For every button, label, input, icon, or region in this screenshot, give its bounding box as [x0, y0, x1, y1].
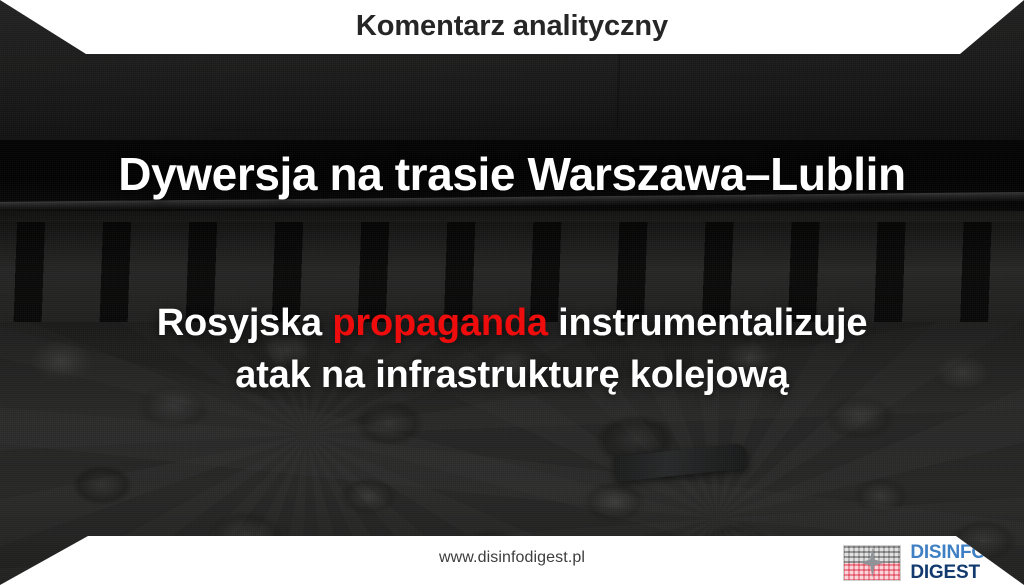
subheadline-text-after: instrumentalizuje: [548, 302, 867, 344]
category-label: Komentarz analityczny: [356, 12, 668, 43]
subheadline-line-2: atak na infrastrukturę kolejową: [30, 350, 994, 402]
subheadline-text-before: Rosyjska: [157, 302, 333, 344]
subheadline-line-1: Rosyjska propaganda instrumentalizuje: [30, 298, 994, 350]
social-card-graphic: Komentarz analityczny Dywersja na trasie…: [0, 0, 1024, 585]
disinfo-digest-logo[interactable]: DISINFO DIGEST: [843, 543, 986, 582]
logo-mark-frame: [843, 545, 901, 581]
logo-word-digest: DIGEST: [910, 563, 986, 582]
subheadline-block: Rosyjska propaganda instrumentalizuje at…: [0, 298, 1024, 401]
page-title: Dywersja na trasie Warszawa–Lublin: [14, 150, 1010, 199]
headline-block: Dywersja na trasie Warszawa–Lublin: [0, 150, 1024, 199]
footer-banner: www.disinfodigest.pl DISINFO DIGEST: [0, 536, 1024, 585]
photo-grain-overlay: [0, 0, 1024, 585]
header-banner: Komentarz analityczny: [0, 0, 1024, 54]
subheadline-highlight-propaganda: propaganda: [332, 302, 547, 344]
compass-star-grid-icon: [843, 545, 901, 581]
